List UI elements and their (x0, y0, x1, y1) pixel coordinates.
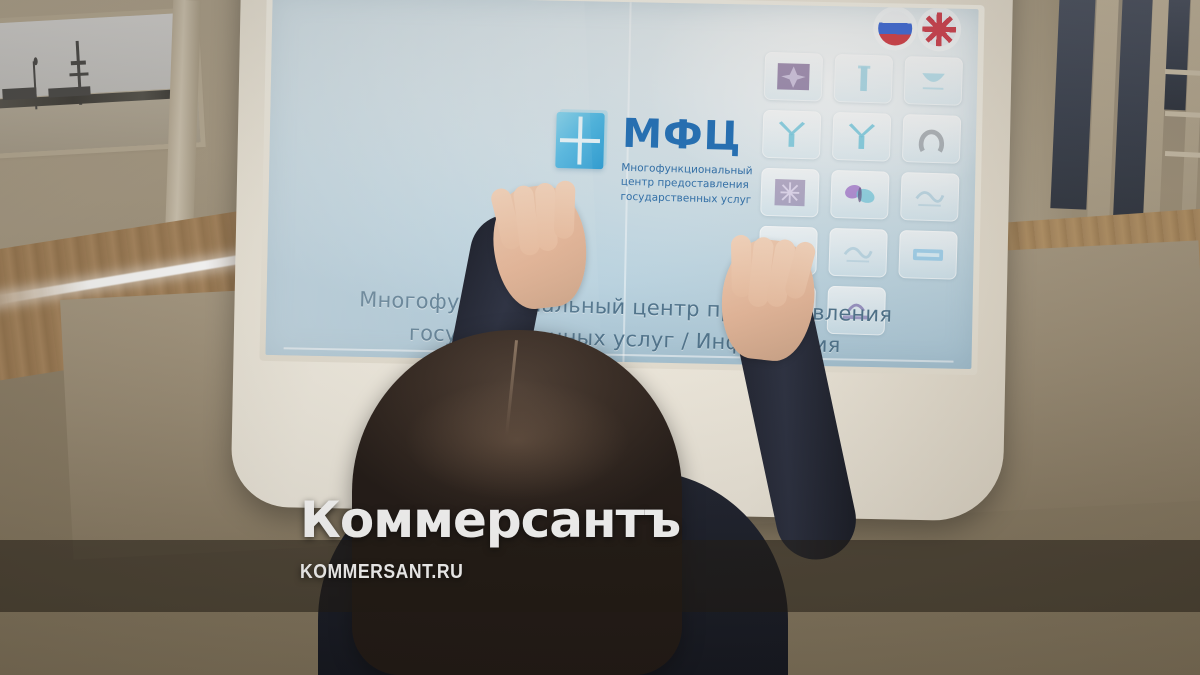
snowflake-icon (770, 177, 809, 208)
tile-logo-1[interactable] (900, 172, 959, 222)
chevron-icon (772, 119, 811, 150)
mfc-logo-subtitle: Многофункциональный центр предоставления… (620, 161, 756, 208)
tile-wordmark[interactable] (898, 230, 957, 280)
tile-chevron-2[interactable] (832, 112, 891, 162)
kiosk-screen[interactable]: МФЦ Многофункциональный центр предоставл… (266, 0, 979, 369)
tile-chart[interactable] (758, 226, 817, 276)
faded-logo-icon (839, 237, 878, 268)
window-tile-icon (555, 112, 604, 169)
tile-chevron-1[interactable] (762, 110, 821, 160)
tile-butterfly[interactable] (830, 170, 889, 220)
bowl-icon (914, 65, 953, 96)
mfc-logo-text: МФЦ Многофункциональный центр предоставл… (620, 114, 757, 208)
language-switcher[interactable] (878, 11, 957, 47)
flag-uk-icon[interactable] (922, 12, 957, 47)
chevron-icon (842, 121, 881, 152)
flag-ru-icon[interactable] (878, 11, 913, 46)
mfc-logo-title: МФЦ (622, 114, 758, 158)
tile-logo-2[interactable] (828, 228, 887, 278)
mfc-logo: МФЦ Многофункциональный центр предоставл… (554, 112, 757, 208)
shelf (1165, 151, 1200, 158)
photo-canvas: МФЦ Многофункциональный центр предоставл… (0, 0, 1200, 675)
bars-icon (769, 235, 808, 266)
touchscreen-kiosk[interactable]: МФЦ Многофункциональный центр предоставл… (230, 0, 1013, 522)
butterfly-icon (840, 179, 879, 210)
violet-emblem-icon (774, 61, 813, 92)
tile-snowflake[interactable] (760, 168, 819, 218)
tile-horseshoe[interactable] (902, 114, 961, 164)
horseshoe-icon (912, 123, 951, 154)
wordmark-icon (909, 239, 948, 270)
tile-emblem[interactable] (764, 52, 823, 102)
faded-logo-icon (910, 181, 949, 212)
tile-column[interactable] (834, 54, 893, 104)
watermark-band (0, 540, 1200, 612)
column-icon (844, 63, 883, 94)
service-tile-grid[interactable] (757, 52, 963, 338)
shelf (1165, 111, 1200, 118)
tile-bowl[interactable] (904, 56, 963, 106)
